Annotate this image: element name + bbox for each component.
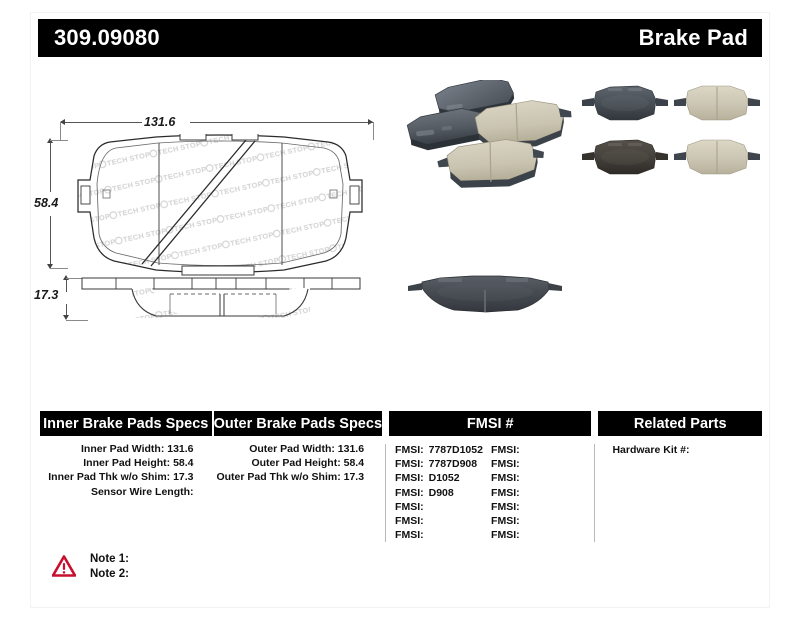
spec-sheet-page: 309.09080 Brake Pad 131.6 58.4 STOP TECH — [0, 0, 800, 619]
fmsi-label: FMSI: — [491, 515, 520, 527]
fmsi-label: FMSI: — [491, 444, 520, 456]
fmsi-entry: FMSI: — [491, 500, 587, 514]
product-type-title: Brake Pad — [639, 27, 748, 49]
note-line-1: Note 1: — [90, 552, 129, 567]
outer-specs-cell: Outer Pad Width: 131.6 Outer Pad Height:… — [214, 442, 383, 542]
fmsi-value: D908 — [429, 487, 454, 499]
inner-specs-cell: Inner Pad Width: 131.6 Inner Pad Height:… — [40, 442, 212, 542]
header-fmsi: FMSI # — [389, 411, 591, 436]
height-dimension-label: 58.4 — [34, 196, 58, 210]
note-text-group: Note 1: Note 2: — [90, 552, 129, 582]
fmsi-entry: FMSI:7787D908 — [395, 457, 491, 471]
fmsi-cell: FMSI:7787D1052 FMSI:7787D908 FMSI:D1052 … — [389, 442, 591, 542]
fmsi-value: 7787D1052 — [429, 444, 483, 456]
fmsi-label: FMSI: — [491, 472, 520, 484]
fmsi-label: FMSI: — [491, 487, 520, 499]
fmsi-label: FMSI: — [491, 529, 520, 541]
header-bar: 309.09080 Brake Pad — [38, 19, 762, 57]
technical-drawing: 131.6 58.4 STOP TECH — [38, 70, 398, 370]
brake-pad-edge-drawing — [70, 270, 370, 340]
header-inner-specs: Inner Brake Pads Specs — [40, 411, 212, 436]
specs-table: Inner Brake Pads Specs Outer Brake Pads … — [40, 411, 762, 542]
product-photo-angled-set — [398, 80, 578, 200]
fmsi-label: FMSI: — [395, 444, 424, 456]
height-dim-line-bottom — [50, 216, 51, 268]
product-photo-flat-set — [578, 84, 763, 194]
fmsi-label: FMSI: — [395, 501, 424, 513]
height-ext-bottom — [50, 268, 68, 269]
header-gap-3 — [591, 411, 598, 436]
related-part-line: Hardware Kit #: — [598, 442, 762, 457]
fmsi-entry: FMSI: — [395, 514, 491, 528]
fmsi-entry: FMSI:D908 — [395, 486, 491, 500]
product-photos — [398, 70, 766, 370]
fmsi-entry: FMSI: — [491, 443, 587, 457]
fmsi-entry: FMSI: — [491, 514, 587, 528]
height-ext-top — [50, 140, 68, 141]
fmsi-value: 7787D908 — [429, 458, 477, 470]
part-number: 309.09080 — [54, 27, 160, 49]
inner-spec-line: Sensor Wire Length: — [40, 485, 212, 499]
fmsi-entry: FMSI: — [395, 528, 491, 542]
inner-spec-line: Inner Pad Height: 58.4 — [40, 456, 212, 470]
fmsi-label: FMSI: — [491, 458, 520, 470]
column-separator-2 — [591, 442, 598, 542]
header-gap-2 — [382, 411, 389, 436]
fmsi-label: FMSI: — [395, 487, 424, 499]
fmsi-label: FMSI: — [395, 458, 424, 470]
header-related-parts: Related Parts — [598, 411, 762, 436]
product-photo-edge-view — [400, 270, 570, 330]
fmsi-entry: FMSI: — [491, 471, 587, 485]
fmsi-entry: FMSI: — [491, 528, 587, 542]
width-dim-line-left — [60, 122, 142, 123]
warning-triangle-icon — [52, 555, 76, 577]
table-body-row: Inner Pad Width: 131.6 Inner Pad Height:… — [40, 436, 762, 542]
outer-spec-line: Outer Pad Height: 58.4 — [214, 456, 383, 470]
fmsi-entry: FMSI: — [395, 500, 491, 514]
fmsi-label: FMSI: — [395, 515, 424, 527]
column-separator-1 — [382, 442, 389, 542]
fmsi-label: FMSI: — [395, 529, 424, 541]
fmsi-subcolumn-right: FMSI: FMSI: FMSI: FMSI: FMSI: FMSI: FMSI… — [491, 443, 587, 542]
fmsi-entry: FMSI:D1052 — [395, 471, 491, 485]
related-parts-cell: Hardware Kit #: — [598, 442, 762, 542]
inner-spec-line: Inner Pad Width: 131.6 — [40, 442, 212, 456]
fmsi-subcolumn-left: FMSI:7787D1052 FMSI:7787D908 FMSI:D1052 … — [395, 443, 491, 542]
thickness-dimension-label: 17.3 — [34, 288, 58, 302]
header-outer-specs: Outer Brake Pads Specs — [214, 411, 383, 436]
width-dimension-label: 131.6 — [144, 115, 175, 129]
fmsi-label: FMSI: — [491, 501, 520, 513]
inner-spec-line: Inner Pad Thk w/o Shim: 17.3 — [40, 470, 212, 484]
fmsi-entry: FMSI:7787D1052 — [395, 443, 491, 457]
table-header-row: Inner Brake Pads Specs Outer Brake Pads … — [40, 411, 762, 436]
outer-spec-line: Outer Pad Thk w/o Shim: 17.3 — [214, 470, 383, 484]
thickness-dim-line-top — [66, 278, 67, 292]
brake-pad-face-drawing: STOP TECH — [70, 134, 370, 284]
fmsi-value: D1052 — [429, 472, 460, 484]
note-line-2: Note 2: — [90, 567, 129, 582]
fmsi-entry: FMSI: — [491, 486, 587, 500]
width-dim-line-right — [190, 122, 373, 123]
outer-spec-line: Outer Pad Width: 131.6 — [214, 442, 383, 456]
fmsi-entry: FMSI: — [491, 457, 587, 471]
fmsi-label: FMSI: — [395, 472, 424, 484]
width-ext-right — [373, 122, 374, 140]
notes-section: Note 1: Note 2: — [52, 552, 129, 582]
height-dim-line-top — [50, 140, 51, 192]
width-ext-left — [60, 122, 61, 140]
